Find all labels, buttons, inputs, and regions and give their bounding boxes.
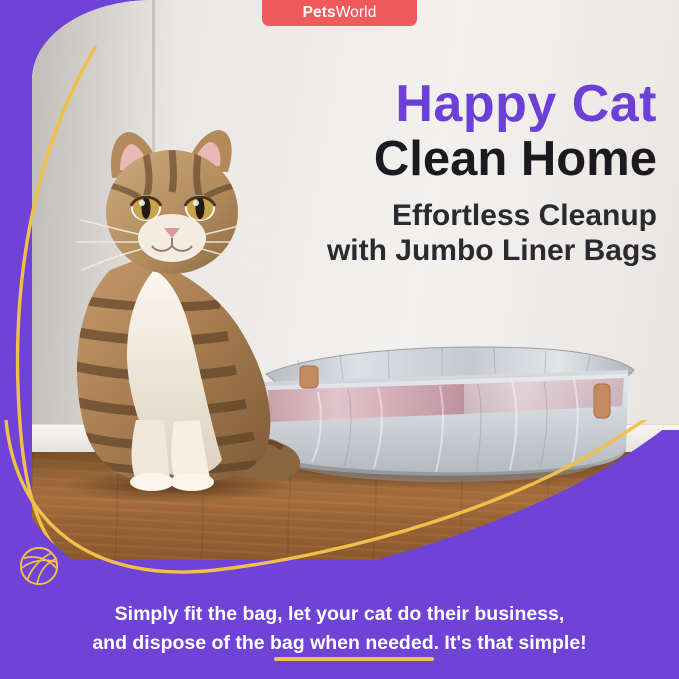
caption-line-1: Simply fit the bag, let your cat do thei… bbox=[0, 600, 679, 628]
footer-caption: Simply fit the bag, let your cat do thei… bbox=[0, 600, 679, 657]
headline-line-3: Effortless Cleanup bbox=[227, 198, 657, 233]
caption-underline bbox=[274, 657, 434, 661]
brand-name-regular: World bbox=[336, 4, 377, 22]
headline-block: Happy Cat Clean Home Effortless Cleanup … bbox=[227, 78, 657, 269]
headline-line-2: Clean Home bbox=[227, 133, 657, 186]
caption-line-2: and dispose of the bag when needed. It's… bbox=[92, 632, 586, 654]
brand-badge: PetsWorld bbox=[262, 0, 417, 26]
headline-line-4: with Jumbo Liner Bags bbox=[227, 233, 657, 268]
caption-line-2-wrapper: and dispose of the bag when needed. It's… bbox=[92, 629, 586, 657]
advertisement-banner: PetsWorld Happy Cat Clean Home Effortles… bbox=[0, 0, 679, 679]
yarn-ball-icon bbox=[18, 545, 60, 587]
headline-line-1: Happy Cat bbox=[227, 78, 657, 131]
brand-name-bold: Pets bbox=[303, 4, 336, 22]
